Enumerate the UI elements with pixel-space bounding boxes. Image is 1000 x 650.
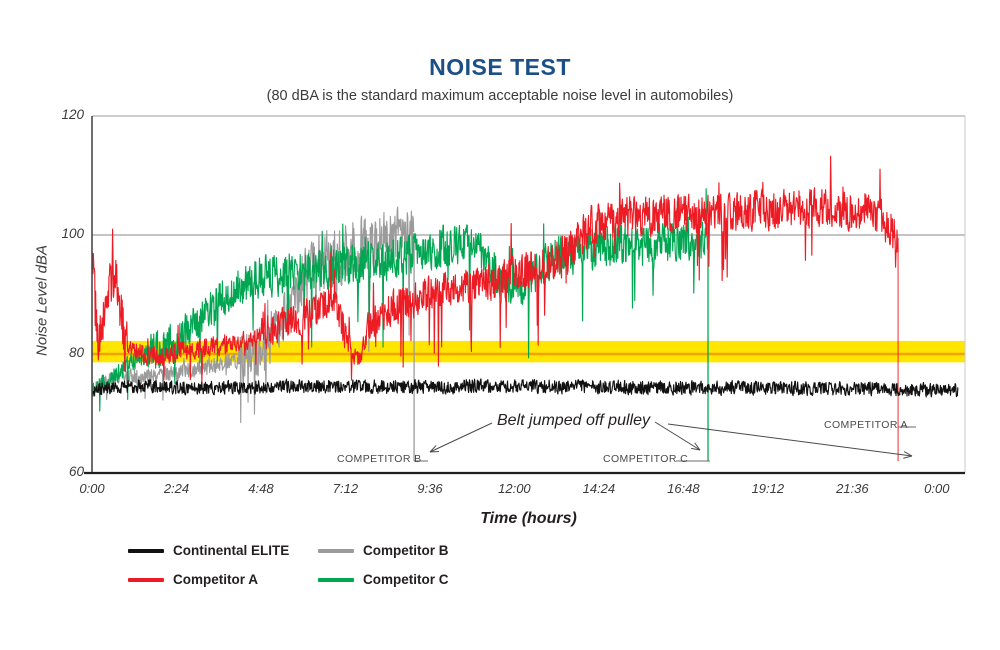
- arrow-head: [430, 451, 439, 452]
- trace-line: [92, 379, 958, 397]
- leader-line: [430, 423, 492, 452]
- competitor-c-marker-label: COMPETITOR C: [603, 453, 688, 465]
- legend-label: Continental ELITE: [173, 543, 289, 558]
- competitor-a-marker-label: COMPETITOR A: [824, 419, 908, 431]
- legend-label: Competitor C: [363, 572, 449, 587]
- legend-label: Competitor B: [363, 543, 449, 558]
- belt-jumped-callout-label: Belt jumped off pulley: [497, 412, 650, 430]
- legend-color-swatch: [128, 578, 164, 582]
- legend-color-swatch: [128, 549, 164, 553]
- legend-item-competitor-c[interactable]: Competitor C: [318, 572, 508, 587]
- legend-color-swatch: [318, 578, 354, 582]
- arrow-to-competitor-c: [655, 422, 700, 450]
- competitor-b-marker-label: COMPETITOR B: [337, 453, 422, 465]
- legend-item-competitor-a[interactable]: Competitor A: [128, 572, 318, 587]
- legend-color-swatch: [318, 549, 354, 553]
- legend-item-competitor-b[interactable]: Competitor B: [318, 543, 508, 558]
- arrow-head: [903, 456, 912, 458]
- noise-test-chart: NOISE TEST (80 dBA is the standard maxim…: [0, 0, 1000, 650]
- legend-item-continental-elite[interactable]: Continental ELITE: [128, 543, 318, 558]
- arrow-to-competitor-b: [430, 423, 492, 452]
- series-continental-elite: [92, 379, 958, 397]
- chart-legend: Continental ELITECompetitor BCompetitor …: [128, 536, 548, 594]
- leader-line: [655, 422, 700, 450]
- legend-label: Competitor A: [173, 572, 258, 587]
- series-competitor-a: [92, 156, 898, 461]
